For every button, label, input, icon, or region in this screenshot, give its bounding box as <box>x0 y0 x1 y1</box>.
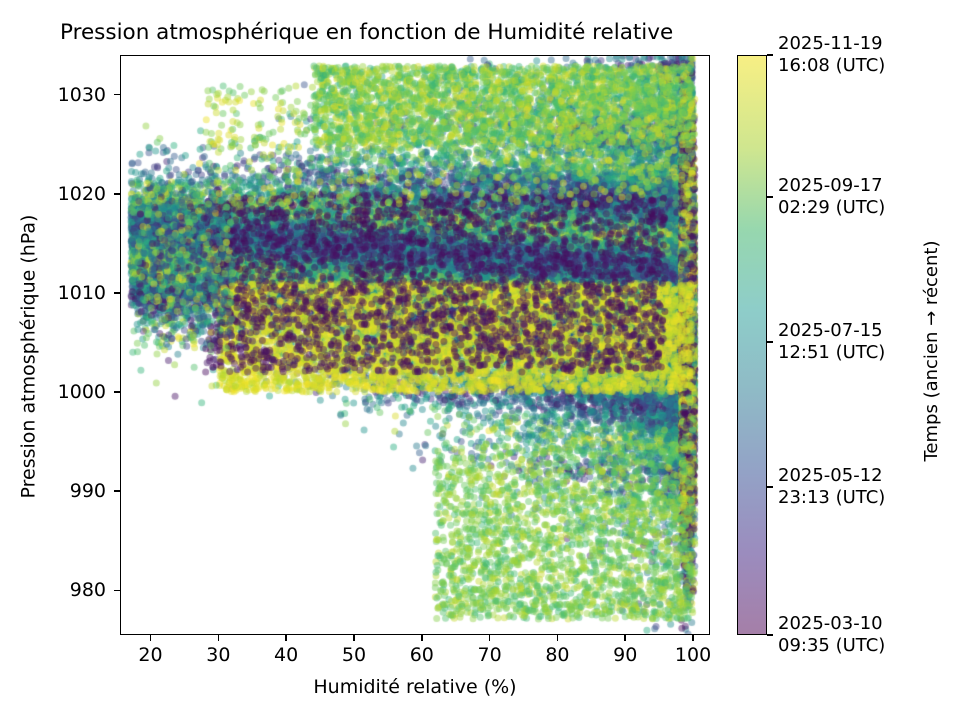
y-tick-mark <box>114 94 120 96</box>
x-tick-label: 60 <box>392 644 452 666</box>
x-tick-mark <box>421 635 423 641</box>
chart-title: Pression atmosphérique en fonction de Hu… <box>60 20 780 46</box>
x-tick-mark <box>353 635 355 641</box>
y-tick-mark <box>114 590 120 592</box>
y-tick-mark <box>114 292 120 294</box>
x-tick-mark <box>489 635 491 641</box>
x-tick-mark <box>624 635 626 641</box>
plot-area <box>120 55 710 635</box>
scatter-points-canvas <box>121 56 709 634</box>
x-tick-mark <box>218 635 220 641</box>
colorbar-tick-label: 2025-03-10 09:35 (UTC) <box>778 613 918 657</box>
colorbar-tick-label: 2025-11-19 16:08 (UTC) <box>778 33 918 77</box>
x-tick-mark <box>692 635 694 641</box>
colorbar-tick-mark <box>767 634 773 636</box>
scatter-chart-figure: Pression atmosphérique en fonction de Hu… <box>0 0 960 720</box>
x-tick-label: 100 <box>663 644 723 666</box>
x-tick-mark <box>150 635 152 641</box>
colorbar-gradient <box>738 56 766 634</box>
colorbar-tick-label: 2025-09-17 02:29 (UTC) <box>778 175 918 219</box>
colorbar-tick-mark <box>767 486 773 488</box>
y-tick-label: 1030 <box>32 84 106 106</box>
x-tick-mark <box>557 635 559 641</box>
colorbar-tick-mark <box>767 54 773 56</box>
y-tick-mark <box>114 193 120 195</box>
y-tick-label: 1020 <box>32 183 106 205</box>
y-axis-label: Pression atmosphérique (hPa) <box>18 207 41 507</box>
x-axis-label: Humidité relative (%) <box>120 676 710 699</box>
x-tick-label: 50 <box>324 644 384 666</box>
colorbar-tick-label: 2025-07-15 12:51 (UTC) <box>778 320 918 364</box>
x-tick-label: 70 <box>460 644 520 666</box>
colorbar-tick-mark <box>767 196 773 198</box>
colorbar-tick-mark <box>767 341 773 343</box>
y-tick-label: 990 <box>32 480 106 502</box>
colorbar-tick-label: 2025-05-12 23:13 (UTC) <box>778 465 918 509</box>
y-tick-label: 1000 <box>32 381 106 403</box>
y-tick-mark <box>114 490 120 492</box>
x-tick-mark <box>285 635 287 641</box>
y-tick-mark <box>114 391 120 393</box>
y-tick-label: 980 <box>32 579 106 601</box>
x-tick-label: 80 <box>527 644 587 666</box>
x-tick-label: 40 <box>256 644 316 666</box>
x-tick-label: 90 <box>595 644 655 666</box>
colorbar-axis-label: Temps (ancien → récent) <box>921 201 943 501</box>
colorbar <box>737 55 767 635</box>
x-tick-label: 30 <box>188 644 248 666</box>
y-tick-label: 1010 <box>32 282 106 304</box>
x-tick-label: 20 <box>121 644 181 666</box>
